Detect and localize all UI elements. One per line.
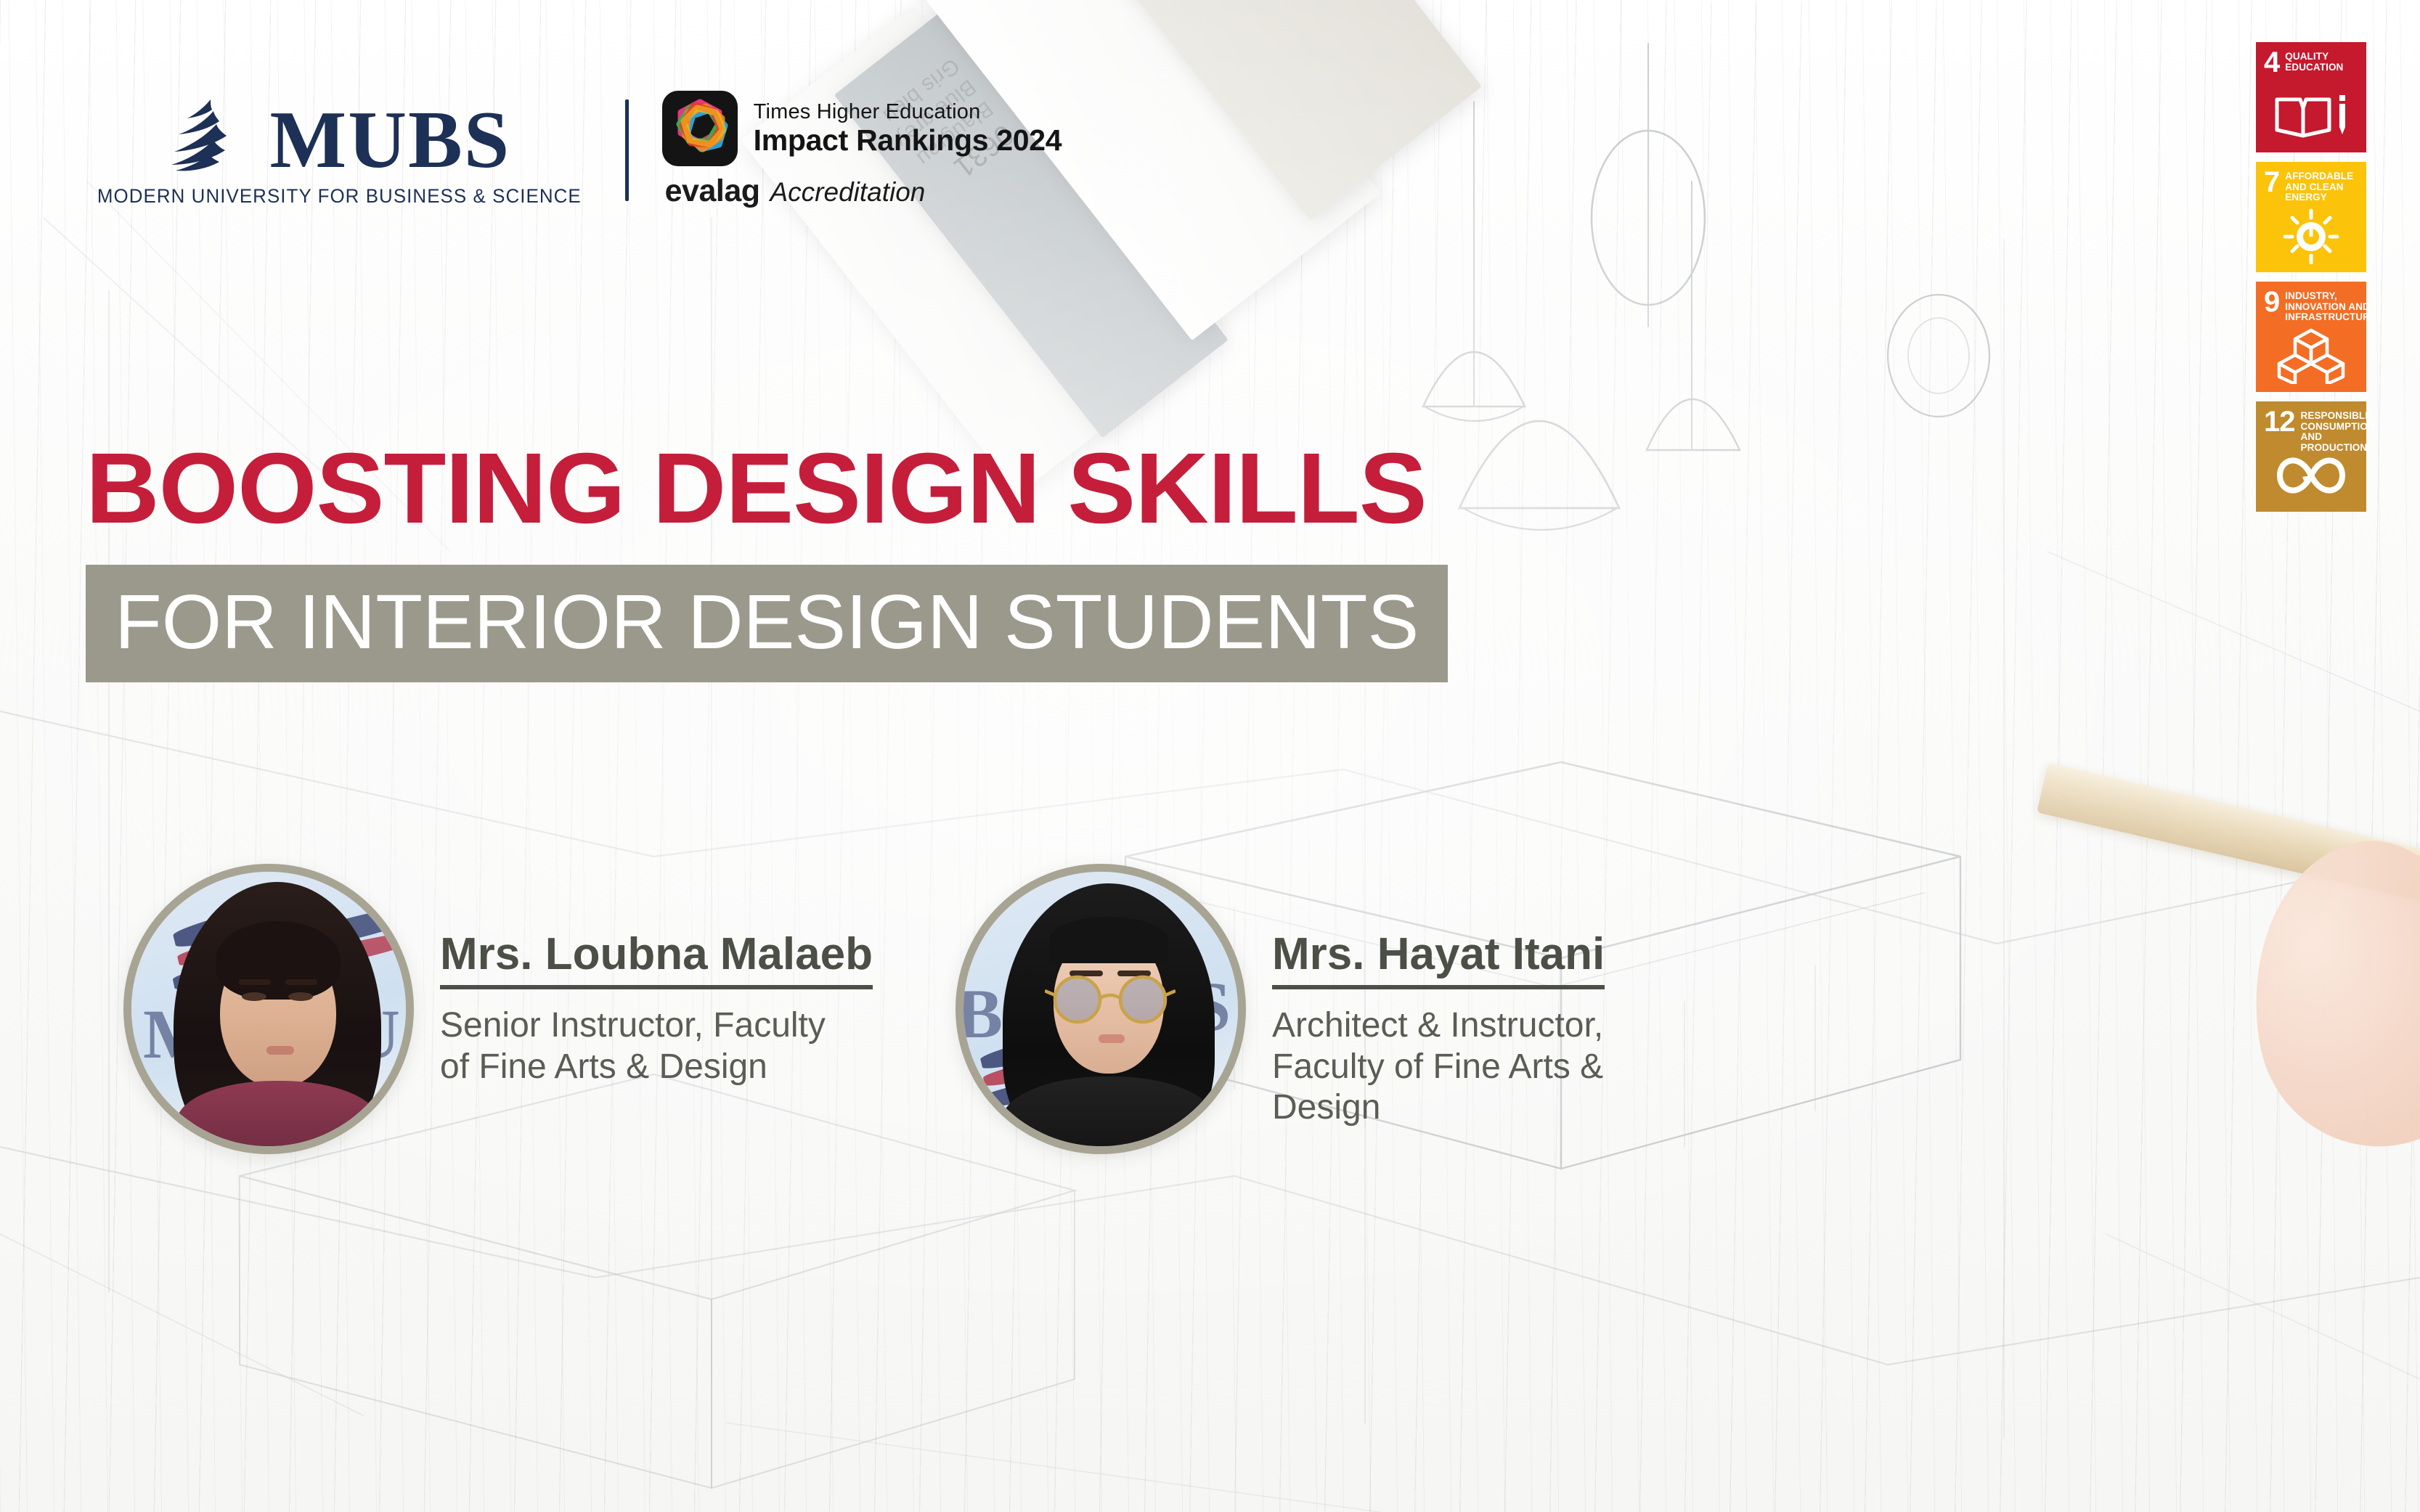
book-pencil-icon — [2256, 86, 2366, 147]
speaker-name: Mrs. Hayat Itani — [1272, 931, 1605, 989]
the-line2: Impact Rankings 2024 — [754, 124, 1062, 156]
speaker-card: M U Mrs. Loubna Malaeb Senior Instructor… — [123, 864, 832, 1154]
sun-power-icon — [2256, 205, 2366, 266]
speaker-card: BS S Mrs. Hayat Itani A — [956, 864, 1664, 1154]
page-subtitle: FOR INTERIOR DESIGN STUDENTS — [115, 584, 1419, 661]
infinity-loop-icon — [2256, 445, 2366, 506]
mubs-logo[interactable]: MUBS MODERN UNIVERSITY FOR BUSINESS & SC… — [87, 92, 592, 208]
sdg-number: 4 — [2264, 50, 2279, 75]
sdg-label: QUALITY EDUCATION — [2285, 50, 2359, 73]
speaker-role: Architect & Instructor, Faculty of Fine … — [1272, 1005, 1664, 1129]
sdg-number: 7 — [2264, 170, 2279, 195]
sdg-label: AFFORDABLE AND CLEAN ENERGY — [2285, 170, 2359, 203]
speaker-info: Mrs. Hayat Itani Architect & Instructor,… — [1272, 864, 1664, 1129]
cubes-icon — [2256, 325, 2366, 386]
shoulders — [176, 1081, 380, 1154]
speaker-info: Mrs. Loubna Malaeb Senior Instructor, Fa… — [440, 864, 832, 1087]
eye-left — [242, 992, 266, 1001]
mouth — [1099, 1034, 1125, 1043]
logo-divider — [625, 99, 629, 201]
mouth — [266, 1046, 294, 1055]
accreditation-block: Times Higher Education Impact Rankings 2… — [662, 91, 1062, 209]
title-block: BOOSTING DESIGN SKILLS FOR INTERIOR DESI… — [86, 438, 1448, 682]
background-layer: 0631 Blaugrau Blue grey Gris bleu — [0, 0, 2420, 1512]
sdg-badge-4[interactable]: 4 QUALITY EDUCATION — [2256, 42, 2366, 152]
mubs-tagline: MODERN UNIVERSITY FOR BUSINESS & SCIENCE — [97, 185, 582, 208]
sdg-number: 12 — [2264, 409, 2295, 434]
evalag-accreditation-label: Accreditation — [770, 177, 926, 208]
avatar: M U — [123, 864, 414, 1154]
hair-front — [216, 921, 341, 1000]
avatar: BS S — [956, 864, 1246, 1154]
subtitle-band: FOR INTERIOR DESIGN STUDENTS — [86, 565, 1448, 682]
sdg-label: INDUSTRY, INNOVATION AND INFRASTRUCTURE — [2285, 290, 2376, 323]
sdg-badge-12[interactable]: 12 RESPONSIBLE CONSUMPTION AND PRODUCTIO… — [2256, 401, 2366, 512]
sdg-badges: 4 QUALITY EDUCATION 7 AFFORDABLE AND CLE… — [2256, 42, 2366, 512]
hijab-front-edge — [1049, 917, 1168, 963]
times-higher-education-hex-icon — [662, 91, 738, 166]
evalag-wordmark: evalag — [665, 173, 760, 209]
speakers-section: M U Mrs. Loubna Malaeb Senior Instructor… — [123, 864, 1664, 1154]
page-title: BOOSTING DESIGN SKILLS — [86, 438, 1475, 539]
header-logos: MUBS MODERN UNIVERSITY FOR BUSINESS & SC… — [87, 91, 1062, 209]
vignette-overlay — [0, 0, 2420, 1512]
cedar-tree-icon — [168, 92, 254, 178]
sdg-badge-7[interactable]: 7 AFFORDABLE AND CLEAN ENERGY — [2256, 162, 2366, 272]
the-line1: Times Higher Education — [754, 101, 1062, 123]
eye-right — [288, 992, 313, 1001]
glasses-icon — [1045, 975, 1176, 1026]
speaker-role: Senior Instructor, Faculty of Fine Arts … — [440, 1005, 832, 1087]
sdg-number: 9 — [2264, 290, 2279, 314]
eyebrow-right — [285, 979, 317, 985]
eyebrow-left — [239, 979, 271, 985]
sdg-badge-9[interactable]: 9 INDUSTRY, INNOVATION AND INFRASTRUCTUR… — [2256, 282, 2366, 392]
mubs-wordmark: MUBS — [270, 103, 511, 178]
speaker-name: Mrs. Loubna Malaeb — [440, 931, 873, 989]
